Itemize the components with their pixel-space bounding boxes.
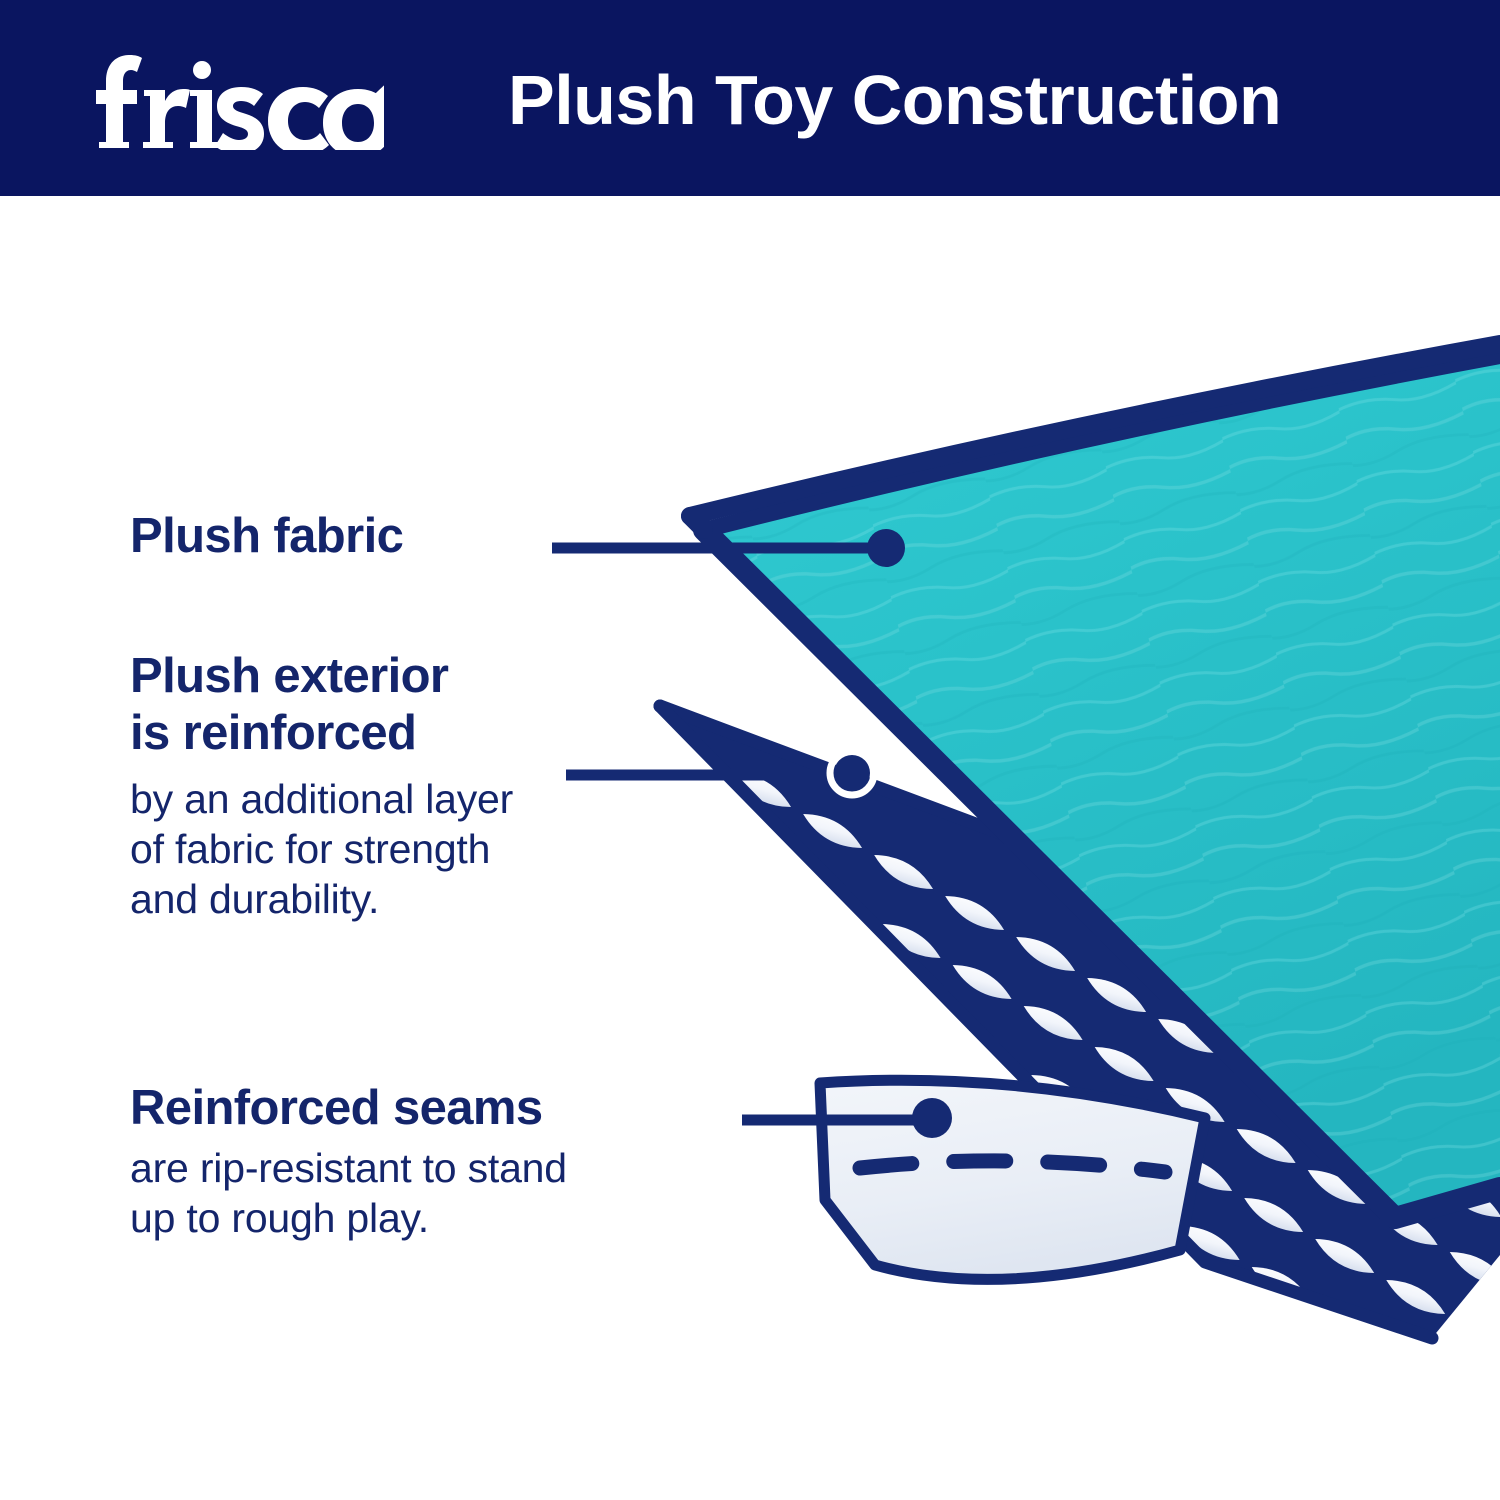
callout-plush-fabric: Plush fabric xyxy=(130,508,600,565)
header-bar: ® Plush Toy Construction xyxy=(0,0,1500,196)
callout-reinforced-seams: Reinforced seams are rip-resistant to st… xyxy=(130,1080,790,1243)
connector-dot-plush-fabric xyxy=(867,529,905,567)
frisco-logo: ® xyxy=(84,46,384,150)
registered-mark: ® xyxy=(371,134,381,149)
connector-dot-reinforced-seams xyxy=(912,1098,952,1138)
callout-2-body: by an additional layer of fabric for str… xyxy=(130,774,720,924)
reinforced-seam-flap xyxy=(820,1080,1205,1279)
connector-plush-fabric xyxy=(552,529,905,567)
callout-3-body: are rip-resistant to stand up to rough p… xyxy=(130,1143,790,1243)
connector-dot-plush-exterior xyxy=(834,755,870,791)
page-title: Plush Toy Construction xyxy=(508,50,1408,150)
stitch-dashes xyxy=(860,1161,1165,1172)
callout-2-headline: Plush exterior is reinforced xyxy=(130,648,720,762)
callout-1-headline: Plush fabric xyxy=(130,508,600,565)
infographic-page: ® Plush Toy Construction xyxy=(0,0,1500,1500)
callout-3-headline: Reinforced seams xyxy=(130,1080,790,1137)
callout-plush-exterior: Plush exterior is reinforced by an addit… xyxy=(130,648,720,924)
